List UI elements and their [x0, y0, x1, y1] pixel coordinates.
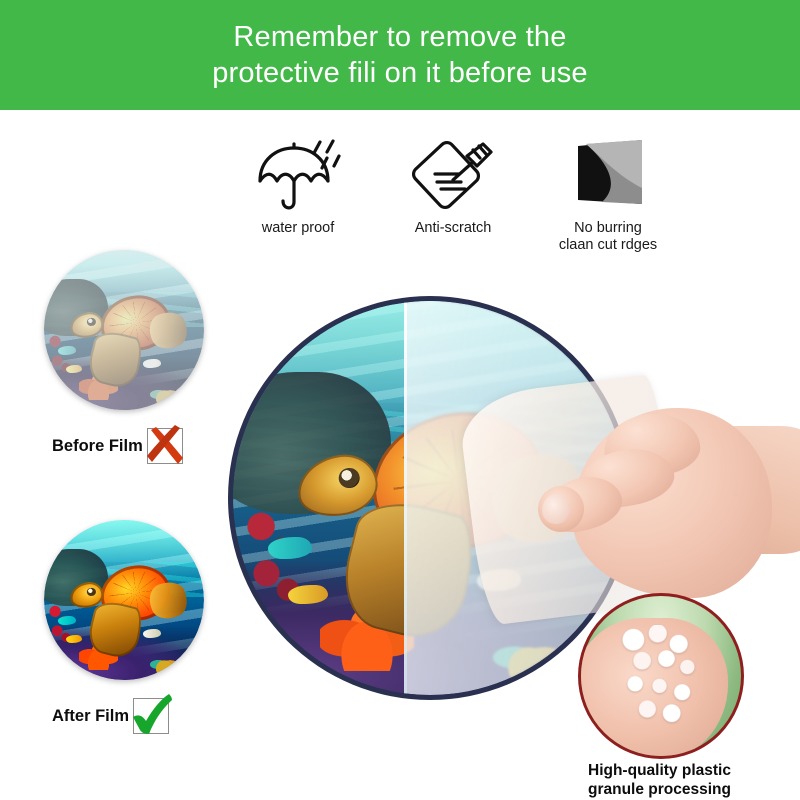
fish-pale — [143, 359, 161, 368]
feature-icon-row: water proof Anti-scratch — [228, 134, 678, 259]
reef-floor — [44, 356, 204, 410]
turtle-artwork-after — [44, 520, 204, 680]
thumb-nail — [542, 494, 570, 524]
granule-inset-block: High-quality plastic granule processing — [578, 593, 738, 753]
hand-peeling-film — [520, 390, 795, 625]
green-check-icon — [128, 693, 174, 739]
feature-label-no-burring: No burring claan cut rdges — [559, 220, 657, 254]
red-coral — [47, 333, 74, 375]
granule-photo-circle — [578, 593, 744, 759]
after-film-thumbnail — [44, 520, 204, 680]
before-film-label: Before Film — [52, 437, 143, 456]
turtle-front-flipper — [85, 327, 146, 390]
turtle-head — [69, 311, 105, 340]
yellow-anemone — [150, 654, 179, 675]
film-edge-line — [404, 301, 407, 695]
light-rays — [44, 250, 204, 410]
surface-waves — [44, 292, 204, 327]
feature-no-burring: No burring claan cut rdges — [538, 134, 678, 259]
before-film-caption: Before Film — [44, 428, 204, 464]
feature-label-no-burring-line2: claan cut rdges — [559, 237, 657, 253]
after-film-block: After Film — [44, 520, 204, 734]
rock-formation — [44, 279, 108, 337]
before-film-thumbnail — [44, 250, 204, 410]
sea-turtle — [58, 544, 196, 666]
feature-water-proof: water proof — [228, 134, 368, 259]
orange-anemone — [79, 368, 117, 400]
feature-label-no-burring-line1: No burring — [574, 220, 642, 236]
granule-caption-line1: High-quality plastic — [588, 762, 731, 779]
banner-line-1: Remember to remove the — [233, 19, 566, 55]
peeling-film-corner-icon — [562, 134, 654, 216]
feature-label-anti-scratch: Anti-scratch — [415, 220, 492, 237]
anti-scratch-blade-icon — [407, 134, 499, 216]
granule-caption: High-quality plastic granule processing — [588, 761, 800, 799]
fish-yellow — [66, 365, 82, 373]
header-banner: Remember to remove the protective fili o… — [0, 0, 800, 110]
after-film-mark-box — [133, 698, 169, 734]
turtle-rear-flipper — [144, 307, 191, 354]
umbrella-rain-icon — [252, 134, 344, 216]
turtle-shell — [97, 291, 174, 355]
before-film-block: Before Film — [44, 250, 204, 464]
banner-line-2: protective fili on it before use — [212, 55, 588, 91]
after-film-caption: After Film — [44, 698, 204, 734]
before-film-mark-box — [147, 428, 183, 464]
turtle-artwork-before — [44, 250, 204, 410]
yellow-anemone — [150, 384, 179, 405]
red-x-icon — [142, 423, 188, 469]
fish-teal — [58, 346, 76, 355]
granule-caption-line2: granule processing — [588, 781, 731, 798]
fish-yellow-2 — [108, 375, 124, 383]
water-background — [44, 250, 204, 410]
sea-turtle — [58, 274, 196, 396]
after-film-label: After Film — [52, 707, 129, 726]
plastic-pellets — [616, 625, 702, 731]
feature-label-water-proof: water proof — [262, 220, 335, 237]
feature-anti-scratch: Anti-scratch — [383, 134, 523, 259]
